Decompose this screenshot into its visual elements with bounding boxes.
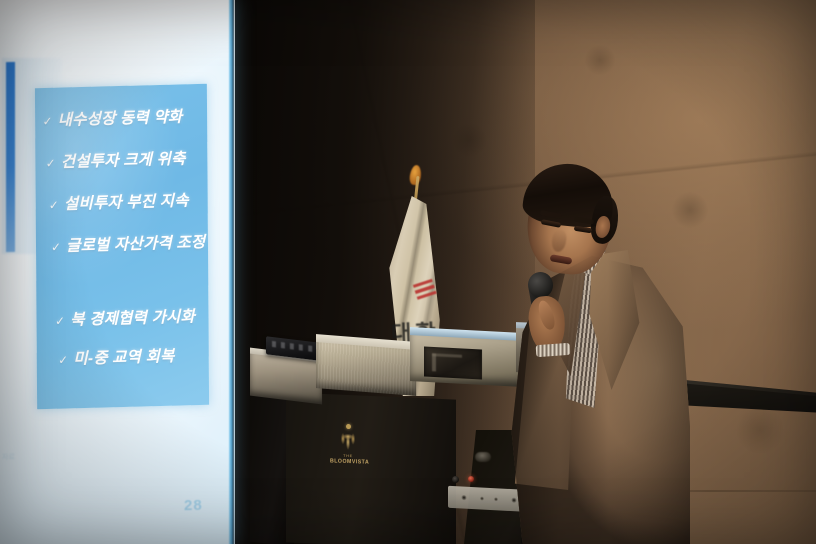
bullet-text: 미-중 교역 회복 xyxy=(73,344,175,369)
check-icon: ✓ xyxy=(42,114,53,128)
slide-page-number: 28 xyxy=(184,497,203,514)
bullet-text: 건설투자 크게 위축 xyxy=(61,147,186,172)
slide-accent-bar xyxy=(6,62,15,252)
bullet-text: 설비투자 부진 지속 xyxy=(64,188,189,213)
list-item: ✓ 미-중 교역 회복 xyxy=(58,344,175,369)
podium-red-led-icon xyxy=(468,476,474,482)
podium-black-led-icon xyxy=(452,476,459,483)
screenshot-root: ✓ 내수성장 동력 약화 ✓ 건설투자 크게 위축 ✓ 설비투자 부진 지속 ✓… xyxy=(0,0,816,544)
emblem-brand-label: BLOOMVISTA xyxy=(330,458,366,465)
list-item: ✓ 설비투자 부진 지속 xyxy=(48,188,189,214)
speaker-shirt-cuff xyxy=(536,343,571,357)
list-item: ✓ 건설투자 크게 위축 xyxy=(45,147,186,173)
check-icon: ✓ xyxy=(49,198,60,212)
check-icon: ✓ xyxy=(51,240,62,254)
bullet-text: 북 경제협력 가시화 xyxy=(70,304,195,329)
screen-glow xyxy=(0,0,235,66)
podium-slab-b-grain xyxy=(316,342,416,396)
slide-footnote: 자료 xyxy=(2,452,48,464)
podium-panel-marking xyxy=(432,353,462,373)
check-icon: ✓ xyxy=(55,314,66,328)
list-item: ✓ 내수성장 동력 약화 xyxy=(42,105,183,131)
bullet-text: 내수성장 동력 약화 xyxy=(57,105,182,130)
slide-bullet-list: ✓ 내수성장 동력 약화 ✓ 건설투자 크게 위축 ✓ 설비투자 부진 지속 ✓… xyxy=(36,89,235,404)
bullet-text: 글로벌 자산가격 조정 xyxy=(66,230,206,256)
podium-slab-a xyxy=(250,354,322,405)
list-item: ✓ 글로벌 자산가격 조정 xyxy=(51,230,206,256)
podium-hotel-emblem: THE BLOOMVISTA xyxy=(330,423,366,484)
check-icon: ✓ xyxy=(58,353,69,367)
podium-front-body xyxy=(286,392,456,544)
check-icon: ✓ xyxy=(45,156,56,170)
podium-knob[interactable] xyxy=(475,452,491,462)
emblem-dot-icon xyxy=(346,424,351,429)
list-item: ✓ 북 경제협력 가시화 xyxy=(55,304,196,330)
